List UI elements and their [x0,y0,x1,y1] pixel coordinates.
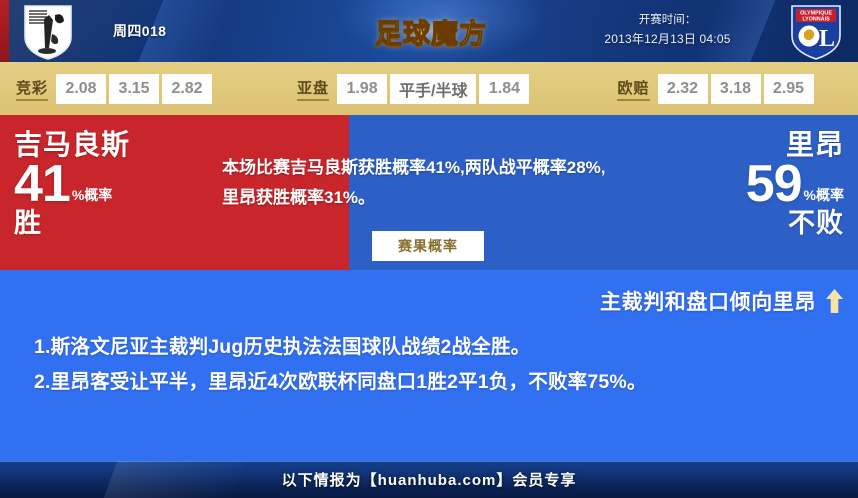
odds-cell-away[interactable]: 2.82 [162,74,212,104]
svg-text:LYONNAIS: LYONNAIS [802,16,830,22]
away-team-block: 里昂 59 %概率 不败 [746,130,844,238]
odds-bar: 竞彩 2.08 3.15 2.82 亚盘 1.98 平手/半球 1.84 欧赔 … [0,62,858,115]
odds-group-jingcai: 竞彩 2.08 3.15 2.82 [16,74,215,104]
odds-group-label: 欧赔 [617,77,649,101]
olympique-lyonnais-crest-icon: OLYMPIQUE LYONNAIS L [788,3,844,61]
kickoff-value: 2013年12月13日 04:05 [585,30,750,49]
svg-text:L: L [819,26,835,52]
analysis-heading-text: 主裁判和盘口倾向里昂 [600,286,816,316]
match-preview-graphic: 周四018 足球魔方 开赛时间： 2013年12月13日 04:05 OLYMP… [0,0,858,498]
odds-cell-handicap[interactable]: 平手/半球 [390,74,476,104]
analysis-line-1: 1.斯洛文尼亚主裁判Jug历史执法法国球队战绩2战全胜。 [34,330,830,365]
home-percent-suffix: %概率 [70,188,112,208]
header: 周四018 足球魔方 开赛时间： 2013年12月13日 04:05 OLYMP… [0,0,858,62]
analysis-heading: 主裁判和盘口倾向里昂 [600,286,844,316]
odds-group-oupei: 欧赔 2.32 3.18 2.95 [617,74,816,104]
odds-group-label: 亚盘 [297,77,329,101]
vitoria-guimaraes-crest-icon [22,3,74,61]
odds-cell-away[interactable]: 1.84 [479,74,529,104]
odds-cell-draw[interactable]: 3.15 [109,74,159,104]
odds-cell-away[interactable]: 2.95 [764,74,814,104]
odds-group-yapan: 亚盘 1.98 平手/半球 1.84 [297,74,532,104]
brand-logo: 足球魔方 [362,9,500,53]
away-percent-value: 59 [746,160,802,208]
home-result-label: 胜 [14,208,130,238]
odds-group-label: 竞彩 [16,77,48,101]
kickoff-time: 开赛时间： 2013年12月13日 04:05 [585,11,750,49]
probability-summary-text: 本场比赛吉马良斯获胜概率41%,两队战平概率28%,里昂获胜概率31%。 [222,153,622,213]
away-percent-suffix: %概率 [802,188,844,208]
match-number: 周四018 [113,21,166,41]
odds-cell-home[interactable]: 1.98 [337,74,387,104]
header-left-red-stripe [0,0,9,62]
odds-cell-home[interactable]: 2.32 [658,74,708,104]
analysis-panel: 主裁判和盘口倾向里昂 1.斯洛文尼亚主裁判Jug历史执法法国球队战绩2战全胜。 … [0,270,858,461]
footer-bar: 以下情报为【huanhuba.com】会员专享 [0,461,858,498]
home-percent-row: 41 %概率 [14,160,130,208]
kickoff-label: 开赛时间： [585,11,750,30]
odds-cell-home[interactable]: 2.08 [56,74,106,104]
away-percent-row: 59 %概率 [746,160,844,208]
home-team-block: 吉马良斯 41 %概率 胜 [14,130,130,238]
probability-panel: 吉马良斯 41 %概率 胜 里昂 59 %概率 不败 赛果概率 本场比赛吉马良斯… [0,115,858,270]
arrow-up-icon [825,288,844,314]
footer-membership-text: 以下情报为【huanhuba.com】会员专享 [282,469,577,490]
analysis-line-2: 2.里昂客受让平半，里昂近4次欧联杯同盘口1胜2平1负，不败率75%。 [34,365,830,400]
odds-cell-draw[interactable]: 3.18 [711,74,761,104]
analysis-lines: 1.斯洛文尼亚主裁判Jug历史执法法国球队战绩2战全胜。 2.里昂客受让平半，里… [34,330,830,400]
brand-logo-text: 足球魔方 [375,12,487,51]
tab-result-probability[interactable]: 赛果概率 [372,231,484,261]
home-percent-value: 41 [14,160,70,208]
